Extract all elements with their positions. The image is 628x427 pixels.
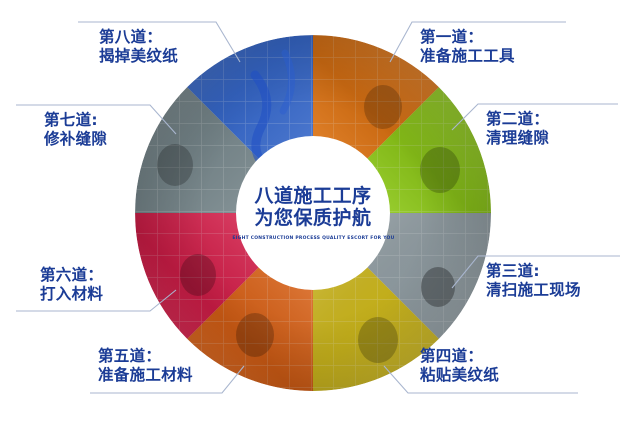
step-label-8[interactable]: 第八道： 揭掉美纹纸	[99, 28, 178, 66]
step-5-name: 准备施工材料	[98, 366, 193, 385]
wheel-center-hub: 八道施工工序 为您保质护航 EIGHT CONSTRUCTION PROCESS…	[237, 137, 389, 289]
step-label-2[interactable]: 第二道： 清理缝隙	[486, 110, 549, 148]
step-1-number: 第一道：	[420, 28, 515, 47]
step-6-number: 第六道：	[40, 266, 103, 285]
step-7-number: 第七道:	[44, 111, 107, 130]
hub-title-line2: 为您保质护航	[254, 207, 371, 229]
step-label-5[interactable]: 第五道： 准备施工材料	[98, 347, 193, 385]
step-8-name: 揭掉美纹纸	[99, 47, 178, 66]
step-5-number: 第五道：	[98, 347, 193, 366]
step-2-number: 第二道：	[486, 110, 549, 129]
step-label-7[interactable]: 第七道: 修补缝隙	[44, 111, 107, 149]
step-2-name: 清理缝隙	[486, 129, 549, 148]
hub-subtitle-en: EIGHT CONSTRUCTION PROCESS QUALITY ESCOR…	[232, 236, 394, 241]
step-label-1[interactable]: 第一道： 准备施工工具	[420, 28, 515, 66]
process-wheel: 八道施工工序 为您保质护航 EIGHT CONSTRUCTION PROCESS…	[135, 35, 491, 391]
step-label-4[interactable]: 第四道： 粘贴美纹纸	[420, 347, 499, 385]
step-1-name: 准备施工工具	[420, 47, 515, 66]
hub-title-line1: 八道施工工序	[254, 185, 371, 207]
step-4-name: 粘贴美纹纸	[420, 366, 499, 385]
step-label-6[interactable]: 第六道： 打入材料	[40, 266, 103, 304]
step-3-number: 第三道:	[486, 262, 581, 281]
step-7-name: 修补缝隙	[44, 130, 107, 149]
step-8-number: 第八道：	[99, 28, 178, 47]
step-3-name: 清扫施工现场	[486, 281, 581, 300]
process-wheel-infographic: 八道施工工序 为您保质护航 EIGHT CONSTRUCTION PROCESS…	[0, 0, 628, 427]
step-4-number: 第四道：	[420, 347, 499, 366]
step-label-3[interactable]: 第三道: 清扫施工现场	[486, 262, 581, 300]
step-6-name: 打入材料	[40, 285, 103, 304]
